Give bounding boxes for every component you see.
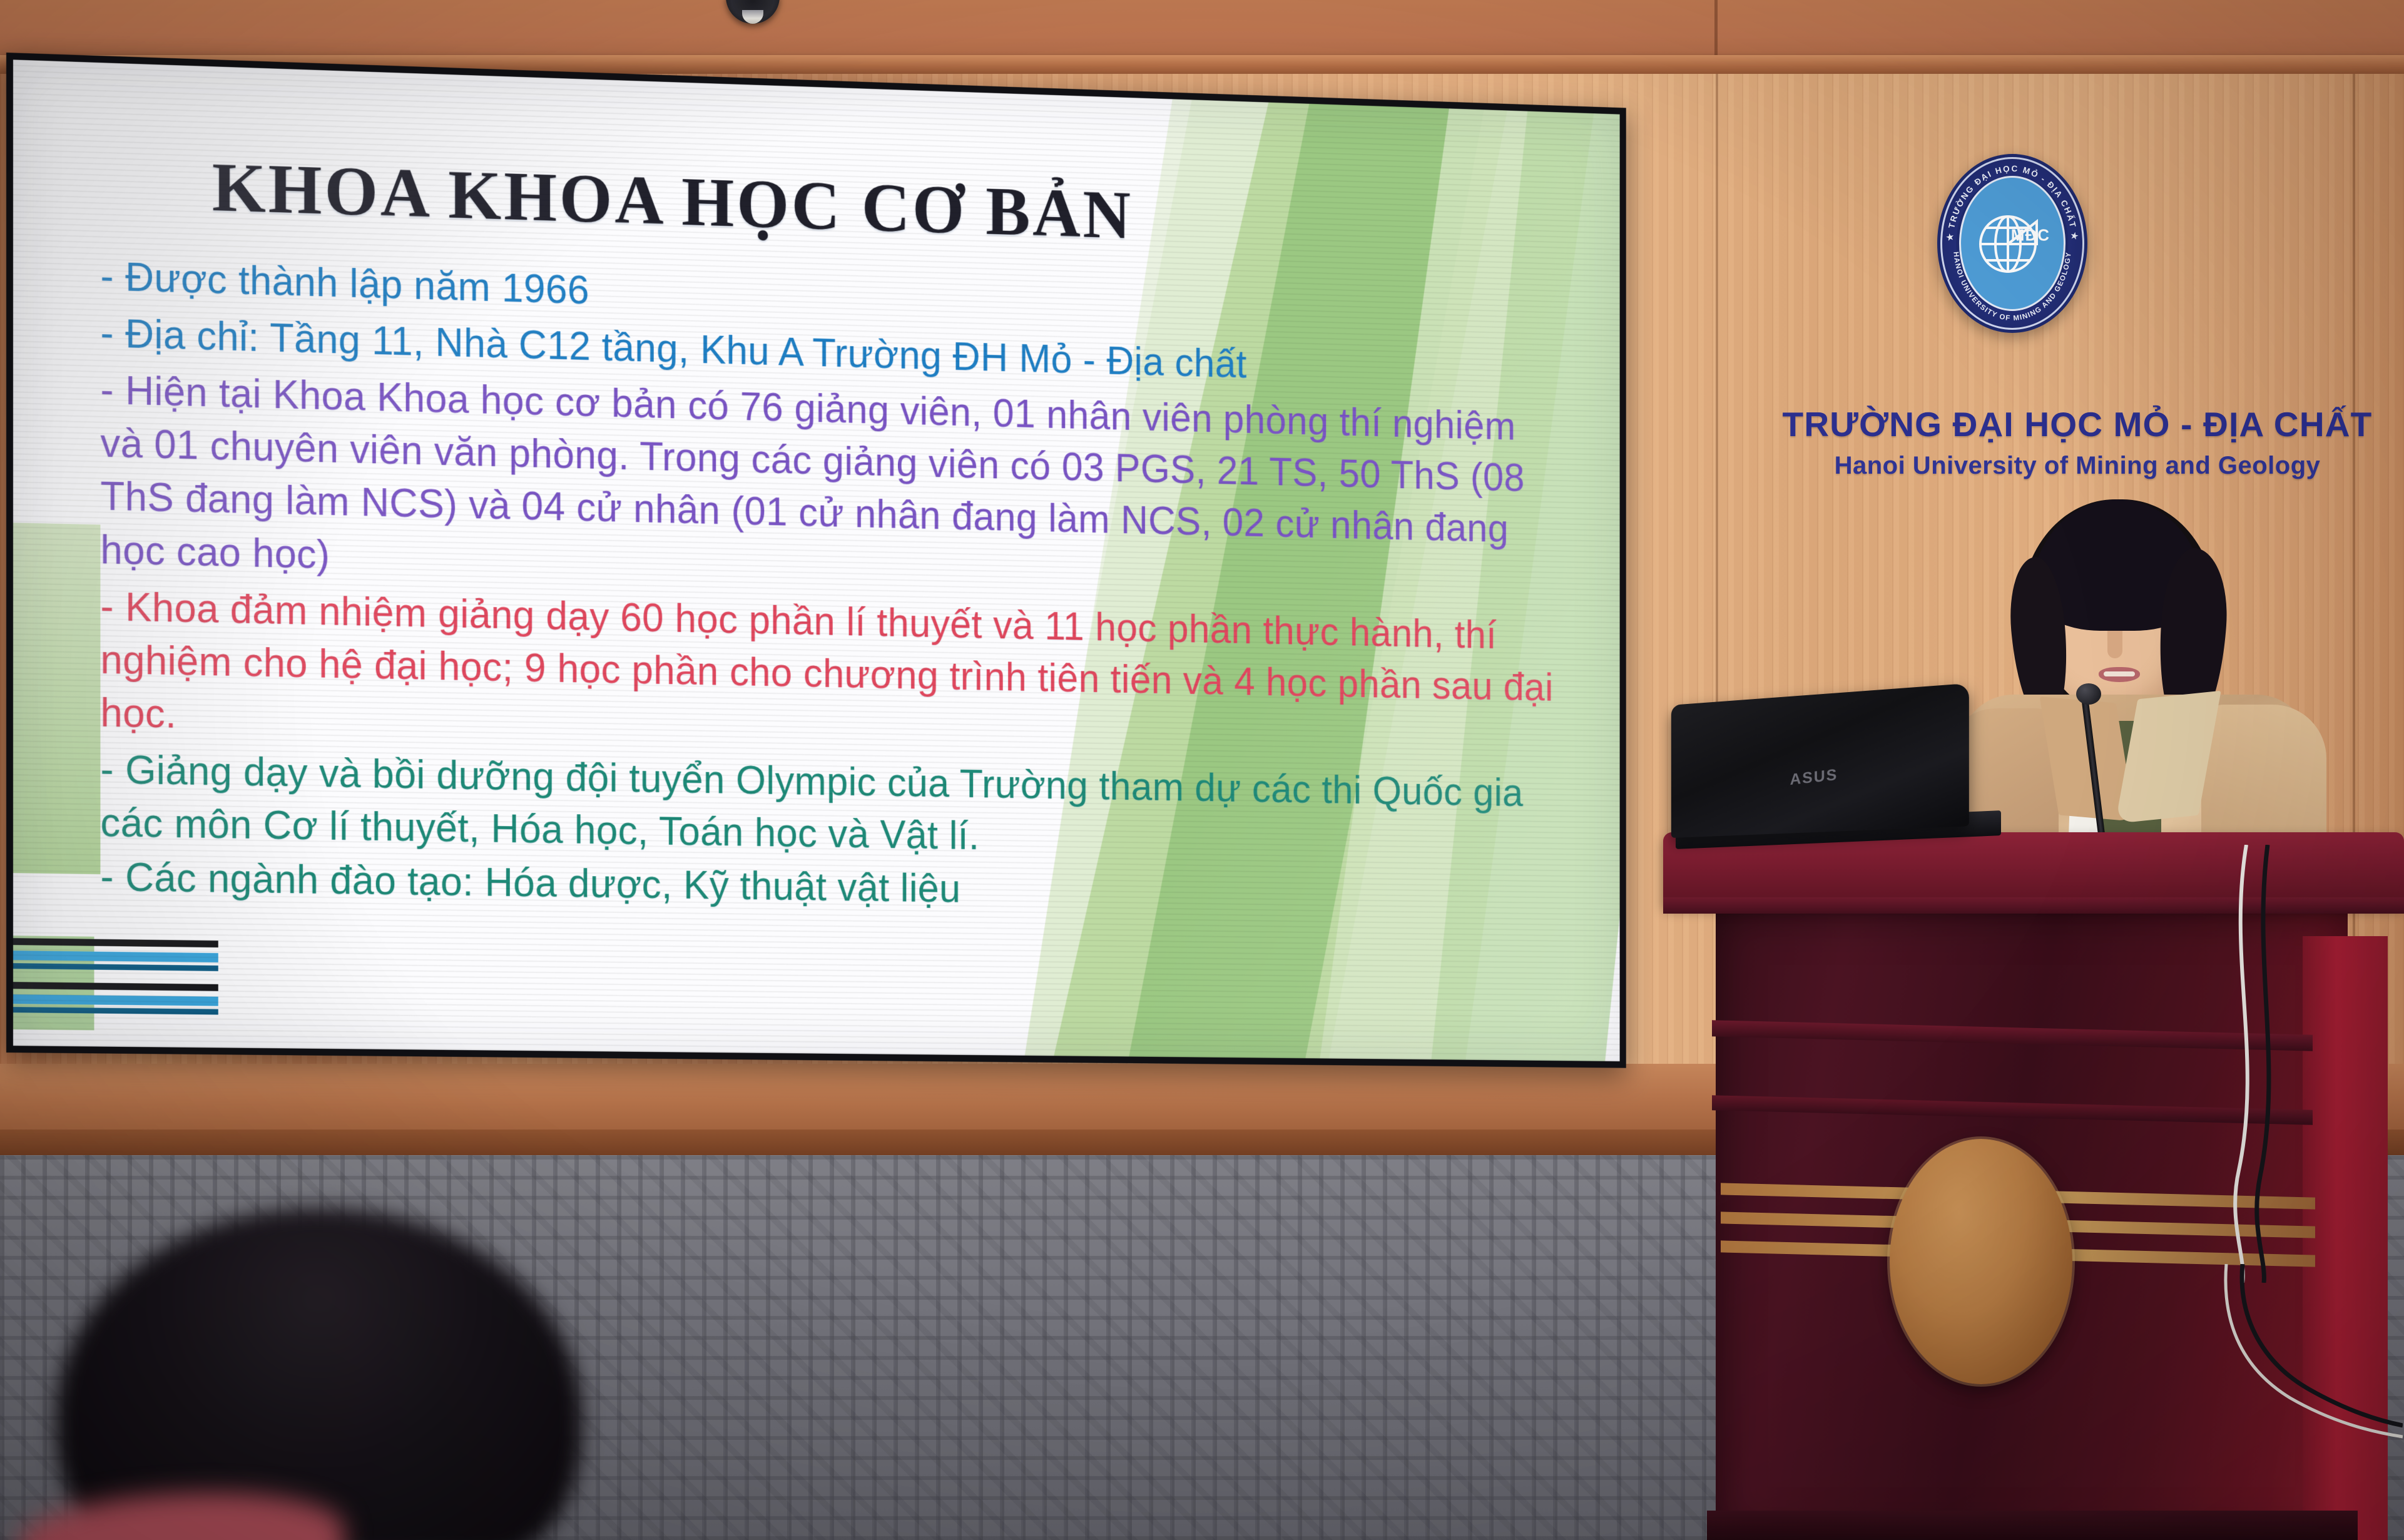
nose [2107,630,2122,658]
laptop[interactable]: ASUS [1664,695,2015,857]
projection-screen: KHOA KHOA HỌC CƠ BẢN - Được thành lập nă… [6,53,1626,1068]
emblem-mdc-text: MĐC [2011,226,2050,245]
slide-bullet: - Khoa đảm nhiệm giảng dạy 60 học phần l… [100,580,1557,765]
emblem-inner-disc: MĐC [1959,176,2065,311]
slide-bullet: - Giảng dạy và bồi dưỡng đội tuyển Olymp… [100,743,1557,871]
slide-content: KHOA KHOA HỌC CƠ BẢN - Được thành lập nă… [13,59,1626,1068]
podium-medallion [1890,1139,2072,1384]
upper-wall [0,0,2404,60]
university-emblem-icon: ★ TRƯỜNG ĐẠI HỌC MỎ - ĐỊA CHẤT ★ HANOI U… [1937,154,2087,333]
wall-title-english: Hanoi University of Mining and Geology [1765,452,2390,480]
wall-seam [1714,0,1718,60]
laptop-lid: ASUS [1671,683,1969,838]
asus-logo: ASUS [1790,766,1838,789]
cable-on-floor [2215,1264,2403,1452]
microphone-icon [2076,683,2101,705]
slide-title: KHOA KHOA HỌC CƠ BẢN [212,148,1325,262]
podium-base [1707,1511,2358,1540]
slide-bullet-list: - Được thành lập năm 1966 - Địa chỉ: Tần… [100,250,1557,924]
wall-title-vietnamese: TRƯỜNG ĐẠI HỌC MỎ - ĐỊA CHẤT [1765,404,2390,444]
mouth [2099,667,2140,682]
slide-bullet: - Hiện tại Khoa Khoa học cơ bản có 76 gi… [100,364,1557,607]
cable-bundle [2203,845,2303,1283]
presentation-room-scene: KHOA KHOA HỌC CƠ BẢN - Được thành lập nă… [0,0,2404,1540]
